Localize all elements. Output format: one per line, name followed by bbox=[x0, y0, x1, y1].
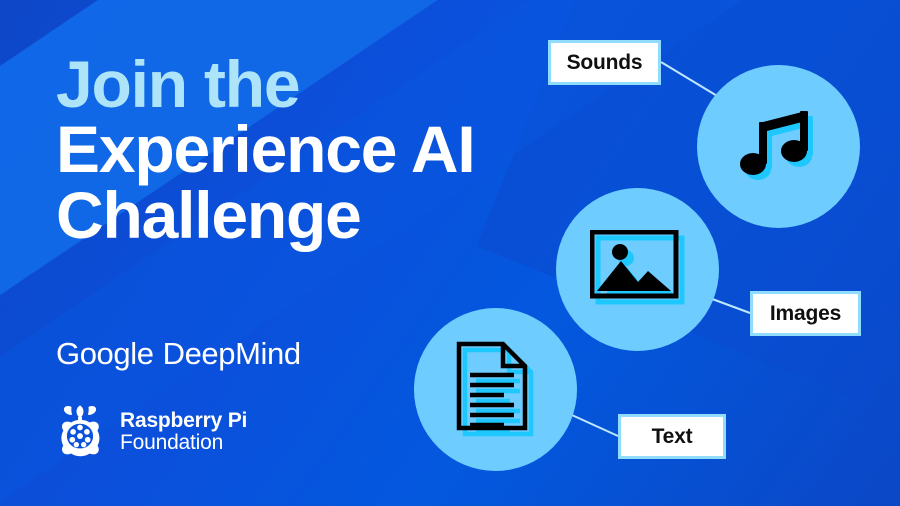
deepmind-wordmark: DeepMind bbox=[163, 336, 301, 371]
raspberry-pi-line-1: Raspberry Pi bbox=[120, 410, 247, 432]
node-circle-text[interactable] bbox=[414, 308, 577, 471]
headline-line-1: Join the bbox=[56, 52, 556, 117]
label-text[interactable]: Text bbox=[618, 414, 726, 459]
headline-line-3: Challenge bbox=[56, 183, 556, 248]
label-sounds[interactable]: Sounds bbox=[548, 40, 661, 85]
raspberry-pi-line-2: Foundation bbox=[120, 432, 247, 454]
google-deepmind-logo: GoogleDeepMind bbox=[56, 336, 301, 372]
label-images[interactable]: Images bbox=[750, 291, 861, 336]
headline: Join the Experience AI Challenge bbox=[56, 52, 556, 248]
document-text-icon bbox=[455, 341, 537, 439]
headline-line-2: Experience AI bbox=[56, 117, 556, 182]
image-picture-icon bbox=[590, 230, 686, 310]
music-note-icon bbox=[736, 104, 822, 190]
node-circle-sounds[interactable] bbox=[697, 65, 860, 228]
raspberry-pi-logo-icon bbox=[54, 404, 106, 460]
experience-ai-challenge-banner: Join the Experience AI Challenge GoogleD… bbox=[0, 0, 900, 506]
raspberry-pi-foundation-logo: Raspberry Pi Foundation bbox=[54, 404, 247, 460]
node-circle-images[interactable] bbox=[556, 188, 719, 351]
google-wordmark: Google bbox=[56, 336, 154, 371]
raspberry-pi-foundation-wordmark: Raspberry Pi Foundation bbox=[120, 410, 247, 455]
